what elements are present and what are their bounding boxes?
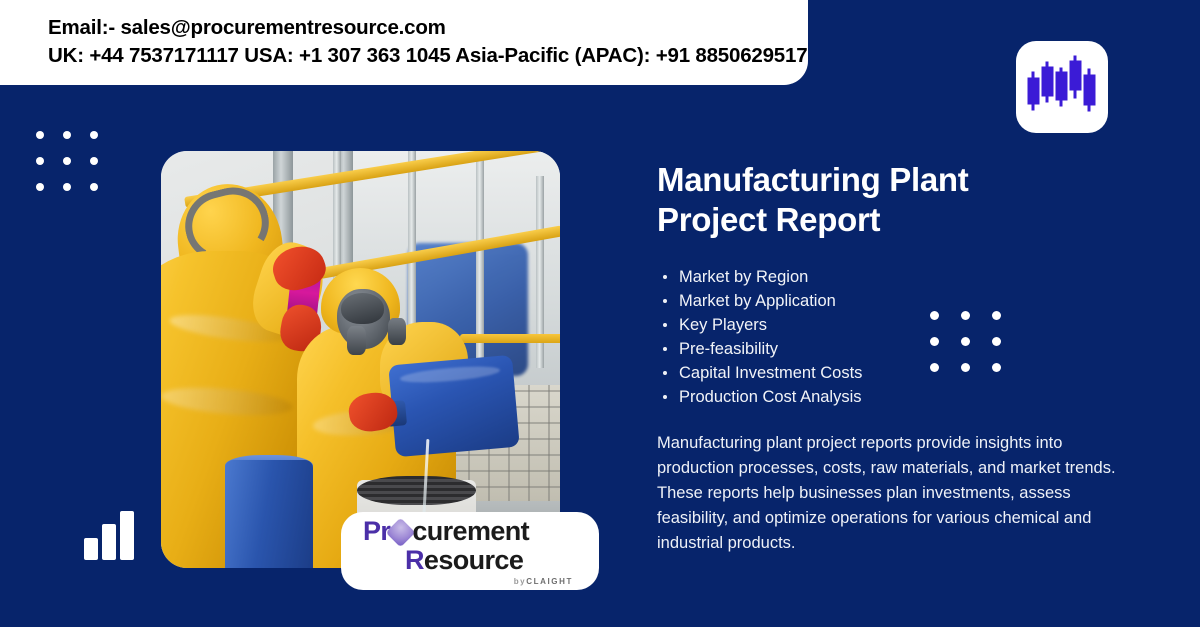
hero-photo: [161, 151, 560, 568]
candlestick-chart-icon: [1025, 50, 1099, 124]
logo-byline: byCLAIGHT: [363, 577, 599, 586]
logo-line-1: Pr curement: [363, 517, 599, 546]
contact-phone-line: UK: +44 7537171117 USA: +1 307 363 1045 …: [48, 42, 808, 69]
contact-header-bar: Email:- sales@procurementresource.com UK…: [0, 0, 808, 85]
dot: [36, 157, 44, 165]
dot: [90, 183, 98, 191]
description-paragraph: Manufacturing plant project reports prov…: [657, 431, 1132, 556]
poster-canvas: Email:- sales@procurementresource.com UK…: [0, 0, 1200, 627]
logo-suffix: curement: [412, 517, 529, 546]
bar-chart-decoration: [83, 508, 135, 565]
logo-line-2: Resource: [405, 546, 599, 575]
content-column: Manufacturing Plant Project Report Marke…: [657, 160, 1132, 556]
list-item: Capital Investment Costs: [657, 361, 1132, 385]
list-item: Pre-feasibility: [657, 337, 1132, 361]
procurement-resource-logo-badge: Pr curement Resource byCLAIGHT: [341, 512, 599, 590]
logo-cube-icon: [386, 517, 416, 547]
list-item: Market by Application: [657, 289, 1132, 313]
list-item: Production Cost Analysis: [657, 385, 1132, 409]
dot: [63, 157, 71, 165]
dot: [63, 131, 71, 139]
list-item: Market by Region: [657, 265, 1132, 289]
dot: [90, 131, 98, 139]
hazmat-workers-photo: [161, 151, 560, 568]
dot-grid-decoration-left: [36, 131, 98, 191]
bar-chart-icon: [83, 508, 135, 560]
feature-bullet-list: Market by Region Market by Application K…: [657, 265, 1132, 409]
dot: [63, 183, 71, 191]
contact-email-line: Email:- sales@procurementresource.com: [48, 14, 808, 42]
list-item: Key Players: [657, 313, 1132, 337]
logo-byline-prefix: by: [514, 577, 527, 586]
logo-line2-rest: esource: [424, 545, 523, 575]
logo-byline-brand: CLAIGHT: [526, 577, 573, 586]
dot: [36, 131, 44, 139]
page-title-line1: Manufacturing Plant: [657, 161, 968, 198]
page-title: Manufacturing Plant Project Report: [657, 160, 1132, 240]
candlestick-chart-badge: [1016, 41, 1108, 133]
page-title-line2: Project Report: [657, 201, 880, 238]
dot: [90, 157, 98, 165]
dot: [36, 183, 44, 191]
